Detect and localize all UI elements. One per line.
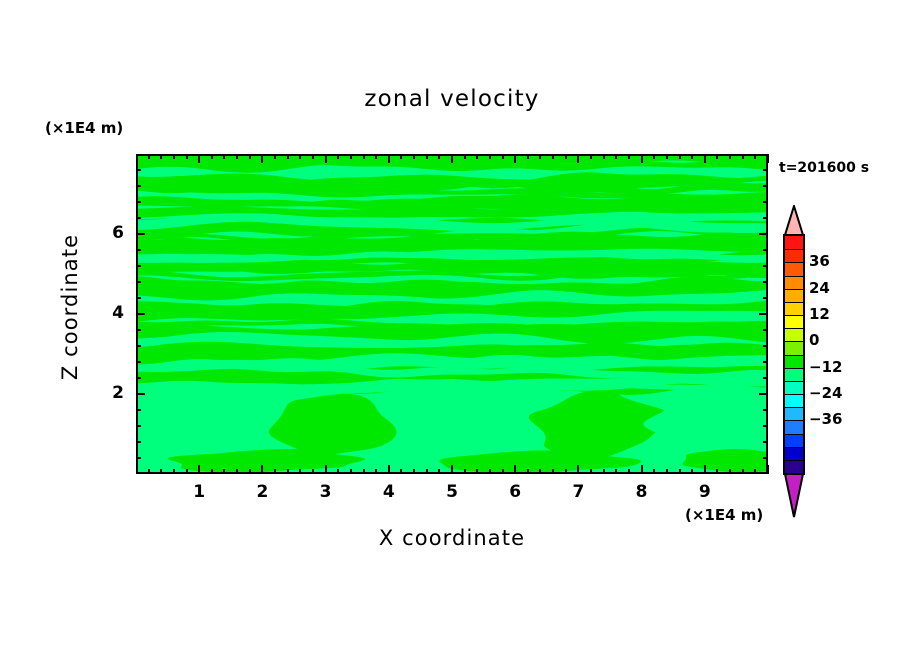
colorbar-band xyxy=(785,341,803,355)
colorbar-band xyxy=(785,262,803,276)
x-axis-minor-tick-top xyxy=(691,154,693,159)
x-axis-minor-tick-top xyxy=(375,154,377,159)
colorbar-tick-label: −36 xyxy=(809,410,842,428)
y-axis-minor-tick-right xyxy=(763,345,768,347)
colorbar-tick-label: 24 xyxy=(809,279,830,297)
x-axis-minor-tick xyxy=(552,469,554,474)
y-axis-title: Z coordinate xyxy=(58,217,82,397)
y-axis-unit-label: (×1E4 m) xyxy=(45,119,123,137)
colorbar-band xyxy=(785,381,803,395)
y-axis-minor-tick-right xyxy=(763,409,768,411)
x-axis-minor-tick xyxy=(691,469,693,474)
y-axis-minor-tick-right xyxy=(763,297,768,299)
x-axis-minor-tick-top xyxy=(666,154,668,159)
colorbar-bottom-arrow xyxy=(783,474,805,518)
x-axis-tick-label: 2 xyxy=(247,482,277,502)
x-axis-minor-tick xyxy=(527,469,529,474)
x-axis-major-tick-top xyxy=(198,154,200,163)
y-axis-minor-tick xyxy=(136,409,141,411)
x-axis-minor-tick xyxy=(312,469,314,474)
colorbar-band-separator xyxy=(785,394,803,395)
y-axis-minor-tick-right xyxy=(763,217,768,219)
colorbar-band-separator xyxy=(785,289,803,290)
x-axis-minor-tick xyxy=(489,469,491,474)
x-axis-minor-tick xyxy=(299,469,301,474)
colorbar-band-separator xyxy=(785,447,803,448)
colorbar-band xyxy=(785,420,803,434)
y-axis-tick-label: 4 xyxy=(90,303,124,323)
x-axis-tick-label: 8 xyxy=(627,482,657,502)
y-axis-tick-label: 6 xyxy=(90,223,124,243)
x-axis-minor-tick-top xyxy=(754,154,756,159)
x-axis-minor-tick xyxy=(223,469,225,474)
y-axis-minor-tick xyxy=(136,297,141,299)
colorbar-band xyxy=(785,289,803,303)
x-axis-minor-tick xyxy=(438,469,440,474)
x-axis-minor-tick xyxy=(426,469,428,474)
x-axis-minor-tick xyxy=(603,469,605,474)
colorbar-band xyxy=(785,460,803,474)
y-axis-minor-tick-right xyxy=(763,457,768,459)
x-axis-major-tick-top xyxy=(577,154,579,163)
x-axis-minor-tick-top xyxy=(223,154,225,159)
y-axis-minor-tick xyxy=(136,249,141,251)
y-axis-major-tick xyxy=(136,393,145,395)
colorbar-band xyxy=(785,315,803,329)
y-axis-minor-tick xyxy=(136,169,141,171)
x-axis-tick-label: 6 xyxy=(500,482,530,502)
timestamp-annotation: t=201600 s xyxy=(779,160,869,176)
x-axis-minor-tick-top xyxy=(565,154,567,159)
x-axis-minor-tick xyxy=(742,469,744,474)
y-axis-minor-tick xyxy=(136,425,141,427)
y-axis-minor-tick-right xyxy=(763,185,768,187)
x-axis-minor-tick xyxy=(186,469,188,474)
x-axis-major-tick-top xyxy=(325,154,327,163)
y-axis-minor-tick xyxy=(136,377,141,379)
x-axis-major-tick xyxy=(577,465,579,474)
x-axis-minor-tick xyxy=(679,469,681,474)
y-axis-minor-tick xyxy=(136,345,141,347)
x-axis-minor-tick-top xyxy=(742,154,744,159)
colorbar-tick-label: −24 xyxy=(809,384,842,402)
x-axis-minor-tick xyxy=(539,469,541,474)
x-axis-minor-tick xyxy=(236,469,238,474)
x-axis-minor-tick xyxy=(274,469,276,474)
x-axis-minor-tick-top xyxy=(729,154,731,159)
x-axis-minor-tick xyxy=(211,469,213,474)
colorbar-top-arrow xyxy=(783,205,805,235)
x-axis-minor-tick-top xyxy=(160,154,162,159)
y-axis-minor-tick xyxy=(136,185,141,187)
x-axis-major-tick-top xyxy=(388,154,390,163)
y-axis-major-tick-right xyxy=(759,313,768,315)
x-axis-minor-tick-top xyxy=(363,154,365,159)
x-axis-minor-tick xyxy=(363,469,365,474)
x-axis-minor-tick-top xyxy=(337,154,339,159)
x-axis-minor-tick-top xyxy=(211,154,213,159)
x-axis-minor-tick xyxy=(413,469,415,474)
y-axis-minor-tick-right xyxy=(763,425,768,427)
x-axis-minor-tick xyxy=(754,469,756,474)
colorbar-band xyxy=(785,447,803,461)
x-axis-major-tick-top xyxy=(451,154,453,163)
colorbar-band-separator xyxy=(785,355,803,356)
colorbar-band xyxy=(785,368,803,382)
x-axis-major-tick-top xyxy=(641,154,643,163)
colorbar-bands xyxy=(783,234,805,475)
x-axis-minor-tick-top xyxy=(148,154,150,159)
x-axis-minor-tick xyxy=(173,469,175,474)
colorbar-band xyxy=(785,302,803,316)
x-axis-minor-tick-top xyxy=(236,154,238,159)
x-axis-tick-label: 5 xyxy=(437,482,467,502)
x-axis-minor-tick xyxy=(590,469,592,474)
colorbar-band-separator xyxy=(785,381,803,382)
colorbar-band-separator xyxy=(785,315,803,316)
colorbar-band-separator xyxy=(785,249,803,250)
y-axis-minor-tick xyxy=(136,441,141,443)
x-axis-minor-tick-top xyxy=(476,154,478,159)
x-axis-minor-tick xyxy=(160,469,162,474)
x-axis-tick-label: 9 xyxy=(690,482,720,502)
colorbar-tick-label: 12 xyxy=(809,305,830,323)
x-axis-major-tick-top xyxy=(261,154,263,163)
x-axis-minor-tick xyxy=(615,469,617,474)
x-axis-minor-tick-top xyxy=(312,154,314,159)
contour-plot-area xyxy=(136,154,768,474)
chart-title: zonal velocity xyxy=(0,86,904,112)
x-axis-minor-tick-top xyxy=(716,154,718,159)
x-axis-major-tick xyxy=(641,465,643,474)
x-axis-minor-tick-top xyxy=(426,154,428,159)
y-axis-minor-tick xyxy=(136,281,141,283)
x-axis-minor-tick-top xyxy=(173,154,175,159)
x-axis-minor-tick xyxy=(249,469,251,474)
x-axis-minor-tick-top xyxy=(539,154,541,159)
colorbar-band-separator xyxy=(785,368,803,369)
colorbar-band-separator xyxy=(785,460,803,461)
x-axis-minor-tick xyxy=(729,469,731,474)
x-axis-minor-tick-top xyxy=(590,154,592,159)
colorbar-band-separator xyxy=(785,420,803,421)
x-axis-minor-tick-top xyxy=(679,154,681,159)
y-axis-minor-tick xyxy=(136,361,141,363)
x-axis-minor-tick xyxy=(502,469,504,474)
colorbar-band xyxy=(785,249,803,263)
colorbar-band xyxy=(785,355,803,369)
colorbar-band-separator xyxy=(785,302,803,303)
x-axis-minor-tick xyxy=(400,469,402,474)
colorbar-band xyxy=(785,276,803,290)
x-axis-minor-tick xyxy=(476,469,478,474)
x-axis-minor-tick xyxy=(148,469,150,474)
x-axis-minor-tick-top xyxy=(628,154,630,159)
x-axis-minor-tick-top xyxy=(274,154,276,159)
x-axis-minor-tick xyxy=(653,469,655,474)
y-axis-major-tick xyxy=(136,313,145,315)
colorbar-band xyxy=(785,236,803,250)
x-axis-minor-tick-top xyxy=(615,154,617,159)
x-axis-minor-tick-top xyxy=(552,154,554,159)
x-axis-unit-label: (×1E4 m) xyxy=(685,506,763,524)
colorbar-tick-label: 0 xyxy=(809,331,819,349)
colorbar-band-separator xyxy=(785,341,803,342)
x-axis-minor-tick xyxy=(716,469,718,474)
x-axis-minor-tick-top xyxy=(502,154,504,159)
y-axis-major-tick-right xyxy=(759,233,768,235)
colorbar: 3624120−12−24−36 xyxy=(783,205,805,525)
y-axis-minor-tick xyxy=(136,217,141,219)
x-axis-major-tick xyxy=(451,465,453,474)
y-axis-minor-tick-right xyxy=(763,169,768,171)
x-axis-tick-label: 4 xyxy=(374,482,404,502)
colorbar-tick-label: −12 xyxy=(809,358,842,376)
x-axis-minor-tick-top xyxy=(249,154,251,159)
x-axis-minor-tick xyxy=(464,469,466,474)
colorbar-band xyxy=(785,328,803,342)
x-axis-minor-tick-top xyxy=(653,154,655,159)
x-axis-minor-tick xyxy=(666,469,668,474)
y-axis-minor-tick-right xyxy=(763,249,768,251)
colorbar-band-separator xyxy=(785,407,803,408)
x-axis-major-tick xyxy=(767,465,769,474)
x-axis-major-tick xyxy=(514,465,516,474)
y-axis-minor-tick-right xyxy=(763,281,768,283)
y-axis-minor-tick-right xyxy=(763,441,768,443)
y-axis-minor-tick xyxy=(136,457,141,459)
y-axis-minor-tick xyxy=(136,265,141,267)
colorbar-band-separator xyxy=(785,276,803,277)
x-axis-major-tick-top xyxy=(704,154,706,163)
x-axis-major-tick-top xyxy=(514,154,516,163)
x-axis-minor-tick xyxy=(628,469,630,474)
y-axis-minor-tick-right xyxy=(763,201,768,203)
x-axis-tick-label: 1 xyxy=(184,482,214,502)
y-axis-major-tick xyxy=(136,233,145,235)
x-axis-minor-tick-top xyxy=(464,154,466,159)
colorbar-band xyxy=(785,394,803,408)
y-axis-minor-tick xyxy=(136,201,141,203)
x-axis-minor-tick xyxy=(287,469,289,474)
plot-canvas: zonal velocity (×1E4 m) (×1E4 m) X coord… xyxy=(0,0,904,654)
x-axis-tick-label: 7 xyxy=(563,482,593,502)
x-axis-minor-tick-top xyxy=(186,154,188,159)
y-axis-minor-tick xyxy=(136,329,141,331)
colorbar-tick-label: 36 xyxy=(809,252,830,270)
x-axis-major-tick xyxy=(325,465,327,474)
x-axis-minor-tick xyxy=(565,469,567,474)
x-axis-minor-tick-top xyxy=(438,154,440,159)
y-axis-minor-tick-right xyxy=(763,329,768,331)
x-axis-major-tick xyxy=(198,465,200,474)
x-axis-title: X coordinate xyxy=(0,526,904,550)
y-axis-minor-tick-right xyxy=(763,361,768,363)
x-axis-minor-tick xyxy=(337,469,339,474)
y-axis-tick-label: 2 xyxy=(90,383,124,403)
x-axis-minor-tick-top xyxy=(400,154,402,159)
x-axis-minor-tick-top xyxy=(603,154,605,159)
x-axis-minor-tick-top xyxy=(489,154,491,159)
x-axis-minor-tick-top xyxy=(287,154,289,159)
colorbar-band-separator xyxy=(785,262,803,263)
x-axis-tick-label: 3 xyxy=(311,482,341,502)
x-axis-minor-tick-top xyxy=(299,154,301,159)
y-axis-minor-tick-right xyxy=(763,265,768,267)
contour-field xyxy=(138,156,766,472)
colorbar-band xyxy=(785,407,803,421)
x-axis-major-tick xyxy=(704,465,706,474)
x-axis-major-tick xyxy=(261,465,263,474)
x-axis-minor-tick-top xyxy=(350,154,352,159)
x-axis-minor-tick-top xyxy=(413,154,415,159)
y-axis-major-tick-right xyxy=(759,393,768,395)
colorbar-band xyxy=(785,434,803,448)
x-axis-minor-tick-top xyxy=(527,154,529,159)
x-axis-major-tick-top xyxy=(767,154,769,163)
x-axis-minor-tick xyxy=(350,469,352,474)
x-axis-major-tick xyxy=(388,465,390,474)
y-axis-minor-tick-right xyxy=(763,377,768,379)
colorbar-band-separator xyxy=(785,328,803,329)
x-axis-minor-tick xyxy=(375,469,377,474)
colorbar-band-separator xyxy=(785,434,803,435)
